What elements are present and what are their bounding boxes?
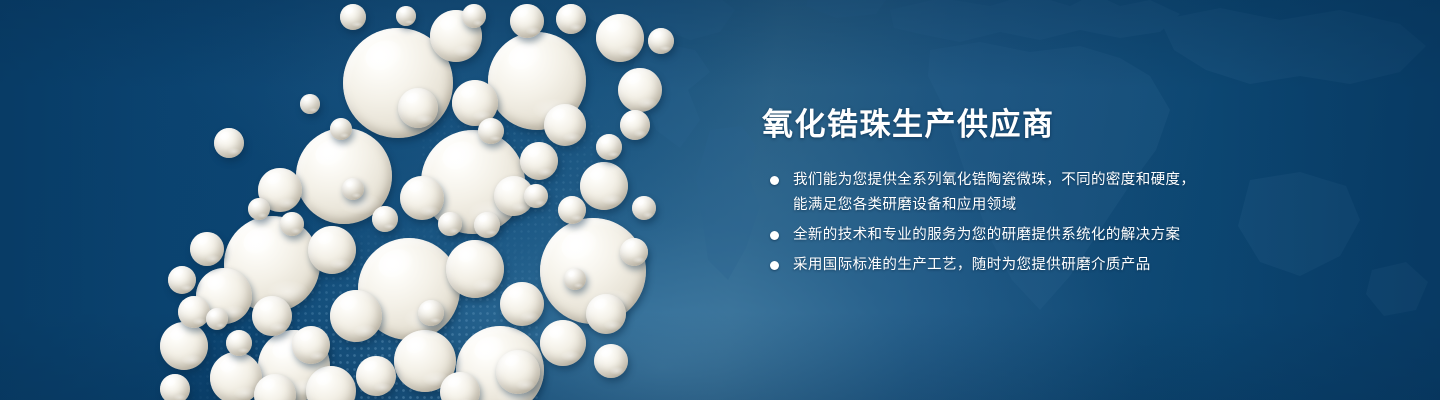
list-item: 采用国际标准的生产工艺，随时为您提供研磨介质产品: [762, 253, 1382, 278]
bead: [206, 308, 228, 330]
bead: [418, 300, 444, 326]
bead: [500, 282, 544, 326]
bead: [330, 118, 352, 140]
bullet-dot-icon: [770, 231, 779, 240]
bullet-dot-icon: [770, 176, 779, 185]
bead: [496, 350, 540, 394]
bead: [620, 238, 648, 266]
page-title: 氧化锆珠生产供应商: [762, 108, 1382, 142]
bead: [594, 344, 628, 378]
bead: [160, 374, 190, 400]
hero-banner: 氧化锆珠生产供应商 我们能为您提供全系列氧化锆陶瓷微珠，不同的密度和硬度， 能满…: [0, 0, 1440, 400]
bead: [524, 184, 548, 208]
bead: [544, 104, 586, 146]
bead: [308, 226, 356, 274]
list-item: 我们能为您提供全系列氧化锆陶瓷微珠，不同的密度和硬度， 能满足您各类研磨设备和应…: [762, 168, 1382, 218]
bead: [252, 296, 292, 336]
bead: [372, 206, 398, 232]
bullet-text-line: 全新的技术和专业的服务为您的研磨提供系统化的解决方案: [793, 223, 1382, 248]
bullet-text-line: 我们能为您提供全系列氧化锆陶瓷微珠，不同的密度和硬度，: [793, 168, 1382, 193]
banner-text-block: 氧化锆珠生产供应商 我们能为您提供全系列氧化锆陶瓷微珠，不同的密度和硬度， 能满…: [762, 108, 1382, 278]
feature-bullet-list: 我们能为您提供全系列氧化锆陶瓷微珠，不同的密度和硬度， 能满足您各类研磨设备和应…: [762, 168, 1382, 278]
bead: [510, 4, 544, 38]
bead: [556, 4, 586, 34]
bead: [396, 6, 416, 26]
bead: [462, 4, 486, 28]
bead: [226, 330, 252, 356]
bead: [300, 94, 320, 114]
bead: [438, 212, 462, 236]
bead: [292, 326, 330, 364]
bead: [398, 88, 438, 128]
bead: [356, 356, 396, 396]
bead: [520, 142, 558, 180]
bead: [540, 320, 586, 366]
bead: [190, 232, 224, 266]
bead: [596, 14, 644, 62]
bead: [280, 212, 304, 236]
bullet-dot-icon: [770, 261, 779, 270]
bead: [618, 68, 662, 112]
bead: [474, 212, 500, 238]
bead: [632, 196, 656, 220]
bead: [580, 162, 628, 210]
bullet-text-line: 能满足您各类研磨设备和应用领域: [793, 193, 1382, 218]
bead: [340, 4, 366, 30]
bead: [620, 110, 650, 140]
bead: [168, 266, 196, 294]
bead: [564, 268, 586, 290]
bead: [248, 198, 270, 220]
bead: [178, 296, 210, 328]
bullet-text-line: 采用国际标准的生产工艺，随时为您提供研磨介质产品: [793, 253, 1382, 278]
bead: [160, 322, 208, 370]
bead: [214, 128, 244, 158]
bead: [586, 294, 626, 334]
bead: [446, 240, 504, 298]
bead: [648, 28, 674, 54]
bead: [342, 178, 364, 200]
bead: [478, 118, 504, 144]
bead: [596, 134, 622, 160]
bead: [330, 290, 382, 342]
list-item: 全新的技术和专业的服务为您的研磨提供系统化的解决方案: [762, 223, 1382, 248]
bead: [558, 196, 586, 224]
bead: [400, 176, 444, 220]
